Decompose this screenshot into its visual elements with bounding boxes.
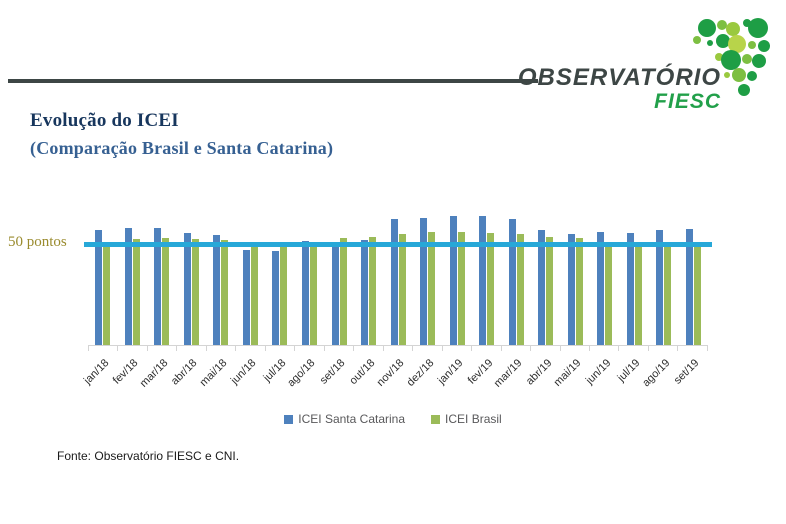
x-label-cell: jan/18: [88, 353, 118, 413]
x-tick: [117, 345, 146, 351]
bar-group-container: [88, 185, 708, 345]
x-label-cell: jun/19: [590, 353, 620, 413]
bar-br[interactable]: [694, 245, 701, 345]
x-tick: [383, 345, 412, 351]
bar-br[interactable]: [605, 245, 612, 345]
legend-label-sc: ICEI Santa Catarina: [298, 412, 405, 426]
bar-br[interactable]: [103, 246, 110, 345]
bar-br[interactable]: [428, 232, 435, 345]
reference-line-label: 50 pontos: [8, 234, 67, 251]
bar-sc[interactable]: [656, 230, 663, 345]
bar-br[interactable]: [280, 246, 287, 345]
bar-pair-abr-19[interactable]: [531, 185, 561, 345]
bar-pair-fev-18[interactable]: [118, 185, 148, 345]
bar-pair-mai-19[interactable]: [561, 185, 591, 345]
bar-br[interactable]: [576, 238, 583, 345]
x-axis-label: jan/18: [82, 357, 112, 387]
bar-pair-fev-19[interactable]: [472, 185, 502, 345]
bar-pair-jun-19[interactable]: [590, 185, 620, 345]
bar-sc[interactable]: [420, 218, 427, 345]
bar-br[interactable]: [635, 245, 642, 345]
bar-br[interactable]: [221, 240, 228, 345]
bar-br[interactable]: [546, 237, 553, 345]
bar-pair-mai-18[interactable]: [206, 185, 236, 345]
x-tick: [412, 345, 441, 351]
x-tick: [294, 345, 323, 351]
bar-sc[interactable]: [184, 233, 191, 345]
bar-pair-ago-19[interactable]: [649, 185, 679, 345]
legend-swatch-icon-sc: [284, 415, 293, 424]
bar-pair-out-18[interactable]: [354, 185, 384, 345]
bar-pair-abr-18[interactable]: [177, 185, 207, 345]
x-tick: [206, 345, 235, 351]
bar-br[interactable]: [251, 244, 258, 345]
x-label-cell: set/18: [324, 353, 354, 413]
bar-br[interactable]: [133, 239, 140, 345]
x-tick: [147, 345, 176, 351]
x-label-cell: jun/18: [236, 353, 266, 413]
source-footnote: Fonte: Observatório FIESC e CNI.: [57, 449, 239, 463]
bar-sc[interactable]: [568, 234, 575, 345]
bar-sc[interactable]: [450, 216, 457, 345]
bar-pair-set-18[interactable]: [324, 185, 354, 345]
bar-br[interactable]: [517, 234, 524, 345]
x-label-cell: ago/19: [649, 353, 679, 413]
x-tick: [530, 345, 559, 351]
x-tick: [265, 345, 294, 351]
chart-plot-area: [88, 185, 708, 345]
bar-pair-mar-19[interactable]: [501, 185, 531, 345]
x-tick: [618, 345, 647, 351]
x-tick: [501, 345, 530, 351]
title-block: Evolução do ICEI (Comparação Brasil e Sa…: [30, 110, 510, 159]
bar-br[interactable]: [458, 232, 465, 345]
bar-sc[interactable]: [391, 219, 398, 345]
bar-pair-dez-18[interactable]: [413, 185, 443, 345]
bar-sc[interactable]: [332, 242, 339, 345]
bar-br[interactable]: [192, 239, 199, 345]
header-divider: [8, 79, 538, 83]
x-tick: [589, 345, 618, 351]
x-label-cell: mai/18: [206, 353, 236, 413]
bar-sc[interactable]: [479, 216, 486, 345]
x-axis-labels: jan/18fev/18mar/18abr/18mai/18jun/18jul/…: [88, 353, 708, 413]
x-tick: [471, 345, 500, 351]
bar-pair-nov-18[interactable]: [383, 185, 413, 345]
x-axis-label: jul/19: [616, 357, 643, 384]
bar-br[interactable]: [487, 233, 494, 345]
bar-sc[interactable]: [272, 251, 279, 345]
legend-item-br[interactable]: ICEI Brasil: [431, 412, 502, 426]
x-label-cell: ago/18: [295, 353, 325, 413]
x-tick: [176, 345, 205, 351]
bar-sc[interactable]: [597, 232, 604, 345]
x-tick: [560, 345, 589, 351]
bar-pair-jul-19[interactable]: [620, 185, 650, 345]
bar-sc[interactable]: [243, 250, 250, 345]
bar-sc[interactable]: [509, 219, 516, 345]
observatorio-fiesc-logo: OBSERVATÓRIO FIESC: [505, 12, 781, 108]
bar-sc[interactable]: [627, 233, 634, 345]
x-tick: [442, 345, 471, 351]
bar-sc[interactable]: [213, 235, 220, 345]
reference-line-50: [84, 242, 712, 247]
legend-swatch-icon-br: [431, 415, 440, 424]
bar-sc[interactable]: [302, 241, 309, 345]
bar-sc[interactable]: [95, 230, 102, 345]
x-tick: [353, 345, 382, 351]
x-tick: [648, 345, 677, 351]
bar-br[interactable]: [399, 234, 406, 345]
x-label-cell: set/19: [679, 353, 709, 413]
icei-bar-chart: 50 pontos jan/18fev/18mar/18abr/18mai/18…: [0, 180, 786, 450]
legend-item-sc[interactable]: ICEI Santa Catarina: [284, 412, 405, 426]
bar-br[interactable]: [162, 238, 169, 345]
bar-pair-set-19[interactable]: [679, 185, 709, 345]
chart-legend: ICEI Santa Catarina ICEI Brasil: [0, 412, 786, 426]
x-axis-ticks: [88, 345, 708, 351]
x-tick: [324, 345, 353, 351]
bar-br[interactable]: [310, 243, 317, 345]
bar-br[interactable]: [369, 237, 376, 345]
bar-sc[interactable]: [538, 230, 545, 345]
bar-pair-mar-18[interactable]: [147, 185, 177, 345]
x-label-cell: dez/18: [413, 353, 443, 413]
x-tick: [88, 345, 117, 351]
bar-pair-ago-18[interactable]: [295, 185, 325, 345]
logo-wordmark-observatorio: OBSERVATÓRIO: [518, 64, 721, 92]
page-subtitle: (Comparação Brasil e Santa Catarina): [30, 138, 510, 159]
page-title: Evolução do ICEI: [30, 110, 510, 132]
logo-wordmark-fiesc: FIESC: [654, 90, 721, 114]
x-label-cell: jan/19: [442, 353, 472, 413]
legend-label-br: ICEI Brasil: [445, 412, 502, 426]
bar-br[interactable]: [340, 238, 347, 345]
bar-pair-jan-19[interactable]: [442, 185, 472, 345]
bar-pair-jul-18[interactable]: [265, 185, 295, 345]
bar-sc[interactable]: [361, 240, 368, 345]
x-tick: [235, 345, 264, 351]
bar-pair-jan-18[interactable]: [88, 185, 118, 345]
bar-br[interactable]: [664, 242, 671, 345]
x-label-cell: mar/19: [501, 353, 531, 413]
x-label-cell: mai/19: [561, 353, 591, 413]
x-tick: [677, 345, 707, 351]
bar-pair-jun-18[interactable]: [236, 185, 266, 345]
